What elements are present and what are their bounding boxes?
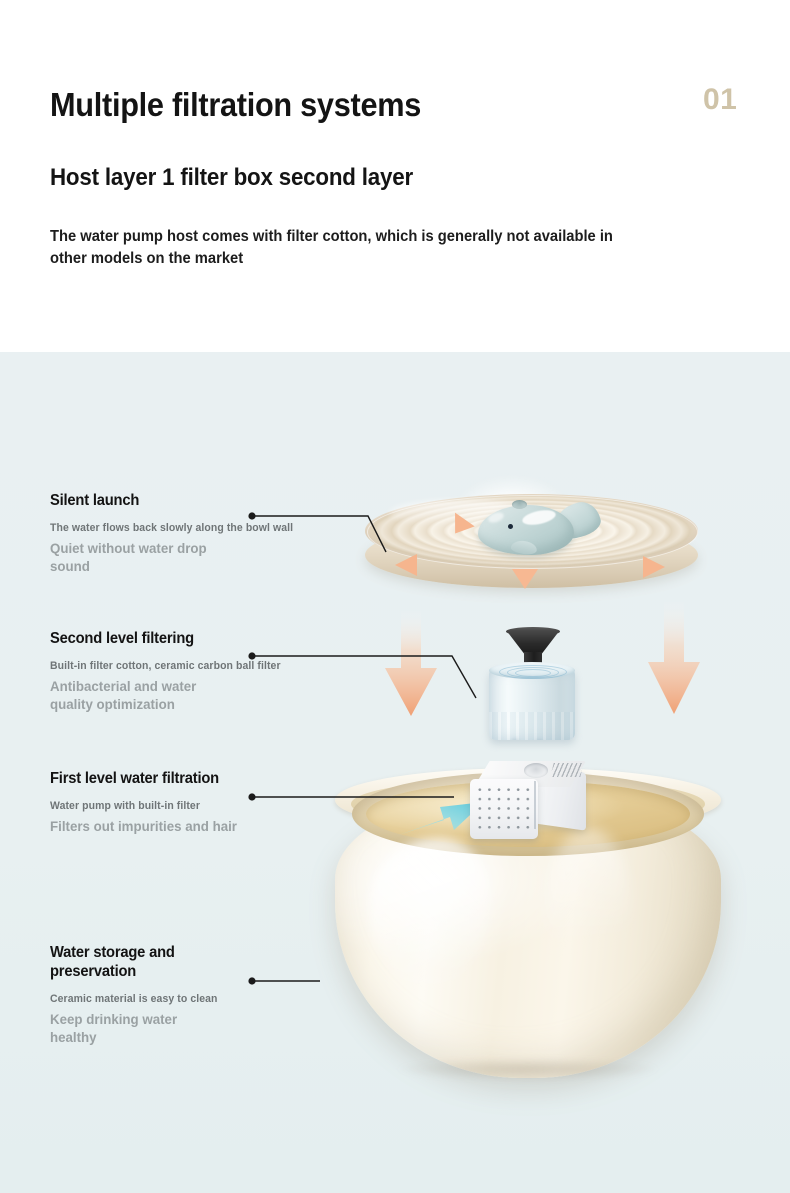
- callout-title: First level water filtration: [50, 770, 237, 789]
- callout-detail: Built-in filter cotton, ceramic carbon b…: [50, 660, 281, 672]
- callout-body: Antibacterial and water quality optimiza…: [50, 678, 281, 714]
- illustration-stage: Silent launch The water flows back slowl…: [0, 352, 790, 1193]
- callout-water-storage: Water storage and preservation Ceramic m…: [50, 944, 226, 1047]
- callout-silent-launch: Silent launch The water flows back slowl…: [50, 492, 306, 576]
- leader-line-first-filtration: [248, 792, 458, 804]
- pump-vent-slots: [550, 763, 583, 777]
- filter-cone: [506, 630, 560, 654]
- callout-detail: The water flows back slowly along the bo…: [50, 522, 293, 534]
- infographic-page: Multiple filtration systems Host layer 1…: [0, 0, 790, 1193]
- page-description: The water pump host comes with filter co…: [50, 226, 620, 271]
- pump-seam: [534, 781, 536, 829]
- callout-title: Water storage and preservation: [50, 944, 218, 982]
- callout-first-level-filtration: First level water filtration Water pump …: [50, 770, 247, 836]
- water-pump: [466, 761, 591, 843]
- lid-flow-arrow-right: [643, 556, 665, 578]
- filter-box: [489, 630, 575, 746]
- callout-title: Second level filtering: [50, 630, 281, 649]
- bowl-shadow: [397, 1058, 659, 1080]
- carbon-balls: [495, 734, 569, 740]
- header-section: Multiple filtration systems Host layer 1…: [0, 0, 790, 352]
- callout-title: Silent launch: [50, 492, 293, 511]
- page-title: Multiple filtration systems: [50, 86, 421, 124]
- flow-arrow-down-right: [638, 600, 710, 723]
- page-subtitle: Host layer 1 filter box second layer: [50, 164, 413, 192]
- whale-figurine: [478, 497, 598, 557]
- section-number: 01: [703, 83, 737, 117]
- whale-eye: [508, 524, 513, 529]
- pump-outlet-port: [524, 763, 548, 778]
- pump-intake-grid: [475, 785, 533, 832]
- callout-body: Keep drinking water healthy: [50, 1011, 218, 1047]
- callout-body: Quiet without water drop sound: [50, 540, 293, 576]
- bowl-gloss-secondary: [545, 828, 631, 988]
- whale-spout-hole: [512, 500, 527, 509]
- filter-ring-inner: [515, 669, 551, 677]
- callout-detail: Water pump with built-in filter: [50, 800, 237, 812]
- leader-line-water-storage: [248, 976, 324, 988]
- callout-second-level-filtering: Second level filtering Built-in filter c…: [50, 630, 293, 714]
- callout-body: Filters out impurities and hair: [50, 818, 237, 836]
- lid-flow-arrow-left: [395, 554, 417, 576]
- lid-flow-arrow-down: [512, 569, 538, 589]
- callout-detail: Ceramic material is easy to clean: [50, 993, 218, 1005]
